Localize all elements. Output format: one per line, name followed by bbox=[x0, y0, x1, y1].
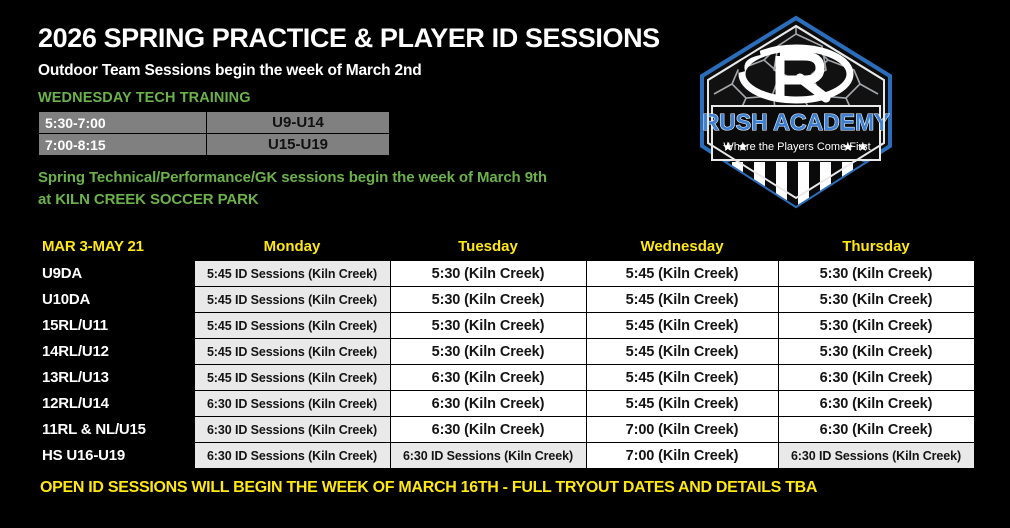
spring-sessions-note-line1: Spring Technical/Performance/GK sessions… bbox=[38, 167, 658, 189]
schedule-cell: 5:45 ID Sessions (Kiln Creek) bbox=[194, 339, 390, 365]
schedule-cell: 5:45 (Kiln Creek) bbox=[586, 313, 778, 339]
header-tuesday: Tuesday bbox=[390, 238, 586, 261]
schedule-cell: 5:30 (Kiln Creek) bbox=[778, 261, 974, 287]
schedule-cell: 5:30 (Kiln Creek) bbox=[778, 287, 974, 313]
schedule-cell: 5:30 (Kiln Creek) bbox=[390, 313, 586, 339]
rush-academy-logo: RUSH ACADEMY ★ ★ Where the Players Come … bbox=[676, 12, 916, 212]
schedule-cell: 5:45 (Kiln Creek) bbox=[586, 339, 778, 365]
schedule-cell: 6:30 (Kiln Creek) bbox=[778, 365, 974, 391]
page-title: 2026 SPRING PRACTICE & PLAYER ID SESSION… bbox=[38, 24, 658, 52]
schedule-cell: 5:45 (Kiln Creek) bbox=[586, 287, 778, 313]
page-subtitle: Outdoor Team Sessions begin the week of … bbox=[38, 62, 658, 80]
schedule-row-label: 15RL/U11 bbox=[38, 313, 194, 339]
open-id-sessions-note: OPEN ID SESSIONS WILL BEGIN THE WEEK OF … bbox=[40, 479, 817, 497]
schedule-table-body: U9DA5:45 ID Sessions (Kiln Creek)5:30 (K… bbox=[38, 261, 974, 469]
schedule-section: MAR 3-MAY 21 Monday Tuesday Wednesday Th… bbox=[38, 238, 978, 469]
table-row: HS U16-U196:30 ID Sessions (Kiln Creek)6… bbox=[38, 443, 974, 469]
table-row: 5:30-7:00 U9-U14 bbox=[39, 112, 390, 134]
schedule-row-label: 12RL/U14 bbox=[38, 391, 194, 417]
spring-sessions-note: Spring Technical/Performance/GK sessions… bbox=[38, 167, 658, 211]
schedule-cell: 6:30 (Kiln Creek) bbox=[390, 391, 586, 417]
schedule-cell: 6:30 ID Sessions (Kiln Creek) bbox=[194, 443, 390, 469]
table-header-row: MAR 3-MAY 21 Monday Tuesday Wednesday Th… bbox=[38, 238, 974, 261]
schedule-cell: 5:45 (Kiln Creek) bbox=[586, 261, 778, 287]
tech-training-body: 5:30-7:00 U9-U14 7:00-8:15 U15-U19 bbox=[39, 112, 390, 156]
table-row: 13RL/U135:45 ID Sessions (Kiln Creek)6:3… bbox=[38, 365, 974, 391]
tech-time: 7:00-8:15 bbox=[39, 134, 207, 156]
tech-training-table: 5:30-7:00 U9-U14 7:00-8:15 U15-U19 bbox=[38, 111, 390, 156]
schedule-cell: 6:30 (Kiln Creek) bbox=[390, 365, 586, 391]
schedule-table-head: MAR 3-MAY 21 Monday Tuesday Wednesday Th… bbox=[38, 238, 974, 261]
schedule-cell: 6:30 (Kiln Creek) bbox=[778, 417, 974, 443]
schedule-cell: 5:30 (Kiln Creek) bbox=[778, 339, 974, 365]
schedule-cell: 5:30 (Kiln Creek) bbox=[390, 261, 586, 287]
schedule-row-label: 14RL/U12 bbox=[38, 339, 194, 365]
schedule-cell: 5:45 ID Sessions (Kiln Creek) bbox=[194, 365, 390, 391]
table-row: U10DA5:45 ID Sessions (Kiln Creek)5:30 (… bbox=[38, 287, 974, 313]
schedule-cell: 6:30 ID Sessions (Kiln Creek) bbox=[778, 443, 974, 469]
schedule-cell: 5:45 (Kiln Creek) bbox=[586, 365, 778, 391]
schedule-cell: 6:30 ID Sessions (Kiln Creek) bbox=[194, 417, 390, 443]
schedule-cell: 7:00 (Kiln Creek) bbox=[586, 417, 778, 443]
tech-training-heading: WEDNESDAY TECH TRAINING bbox=[38, 90, 658, 106]
schedule-cell: 7:00 (Kiln Creek) bbox=[586, 443, 778, 469]
spring-sessions-note-line2: at KILN CREEK SOCCER PARK bbox=[38, 189, 658, 211]
tech-age-group: U9-U14 bbox=[207, 112, 390, 134]
schedule-cell: 6:30 (Kiln Creek) bbox=[778, 391, 974, 417]
tech-time: 5:30-7:00 bbox=[39, 112, 207, 134]
schedule-row-label: HS U16-U19 bbox=[38, 443, 194, 469]
schedule-cell: 6:30 ID Sessions (Kiln Creek) bbox=[390, 443, 586, 469]
table-row: 11RL & NL/U156:30 ID Sessions (Kiln Cree… bbox=[38, 417, 974, 443]
schedule-cell: 5:30 (Kiln Creek) bbox=[778, 313, 974, 339]
table-row: 14RL/U125:45 ID Sessions (Kiln Creek)5:3… bbox=[38, 339, 974, 365]
tech-age-group: U15-U19 bbox=[207, 134, 390, 156]
header-date-range: MAR 3-MAY 21 bbox=[38, 238, 194, 261]
logo-name: RUSH ACADEMY bbox=[703, 109, 890, 135]
schedule-row-label: 11RL & NL/U15 bbox=[38, 417, 194, 443]
schedule-row-label: 13RL/U13 bbox=[38, 365, 194, 391]
schedule-cell: 5:45 ID Sessions (Kiln Creek) bbox=[194, 261, 390, 287]
schedule-cell: 5:30 (Kiln Creek) bbox=[390, 287, 586, 313]
schedule-cell: 5:45 ID Sessions (Kiln Creek) bbox=[194, 287, 390, 313]
schedule-cell: 5:45 (Kiln Creek) bbox=[586, 391, 778, 417]
header-wednesday: Wednesday bbox=[586, 238, 778, 261]
star-icon: ★ bbox=[857, 139, 869, 154]
table-row: 7:00-8:15 U15-U19 bbox=[39, 134, 390, 156]
table-row: U9DA5:45 ID Sessions (Kiln Creek)5:30 (K… bbox=[38, 261, 974, 287]
header-monday: Monday bbox=[194, 238, 390, 261]
schedule-row-label: U9DA bbox=[38, 261, 194, 287]
schedule-cell: 5:45 ID Sessions (Kiln Creek) bbox=[194, 313, 390, 339]
schedule-cell: 6:30 (Kiln Creek) bbox=[390, 417, 586, 443]
schedule-table: MAR 3-MAY 21 Monday Tuesday Wednesday Th… bbox=[38, 238, 975, 469]
table-row: 12RL/U146:30 ID Sessions (Kiln Creek)6:3… bbox=[38, 391, 974, 417]
schedule-row-label: U10DA bbox=[38, 287, 194, 313]
header-thursday: Thursday bbox=[778, 238, 974, 261]
table-row: 15RL/U115:45 ID Sessions (Kiln Creek)5:3… bbox=[38, 313, 974, 339]
header-block: 2026 SPRING PRACTICE & PLAYER ID SESSION… bbox=[38, 24, 658, 211]
schedule-cell: 6:30 ID Sessions (Kiln Creek) bbox=[194, 391, 390, 417]
star-icon: ★ bbox=[842, 139, 854, 154]
schedule-cell: 5:30 (Kiln Creek) bbox=[390, 339, 586, 365]
logo-svg: RUSH ACADEMY ★ ★ Where the Players Come … bbox=[676, 12, 916, 212]
